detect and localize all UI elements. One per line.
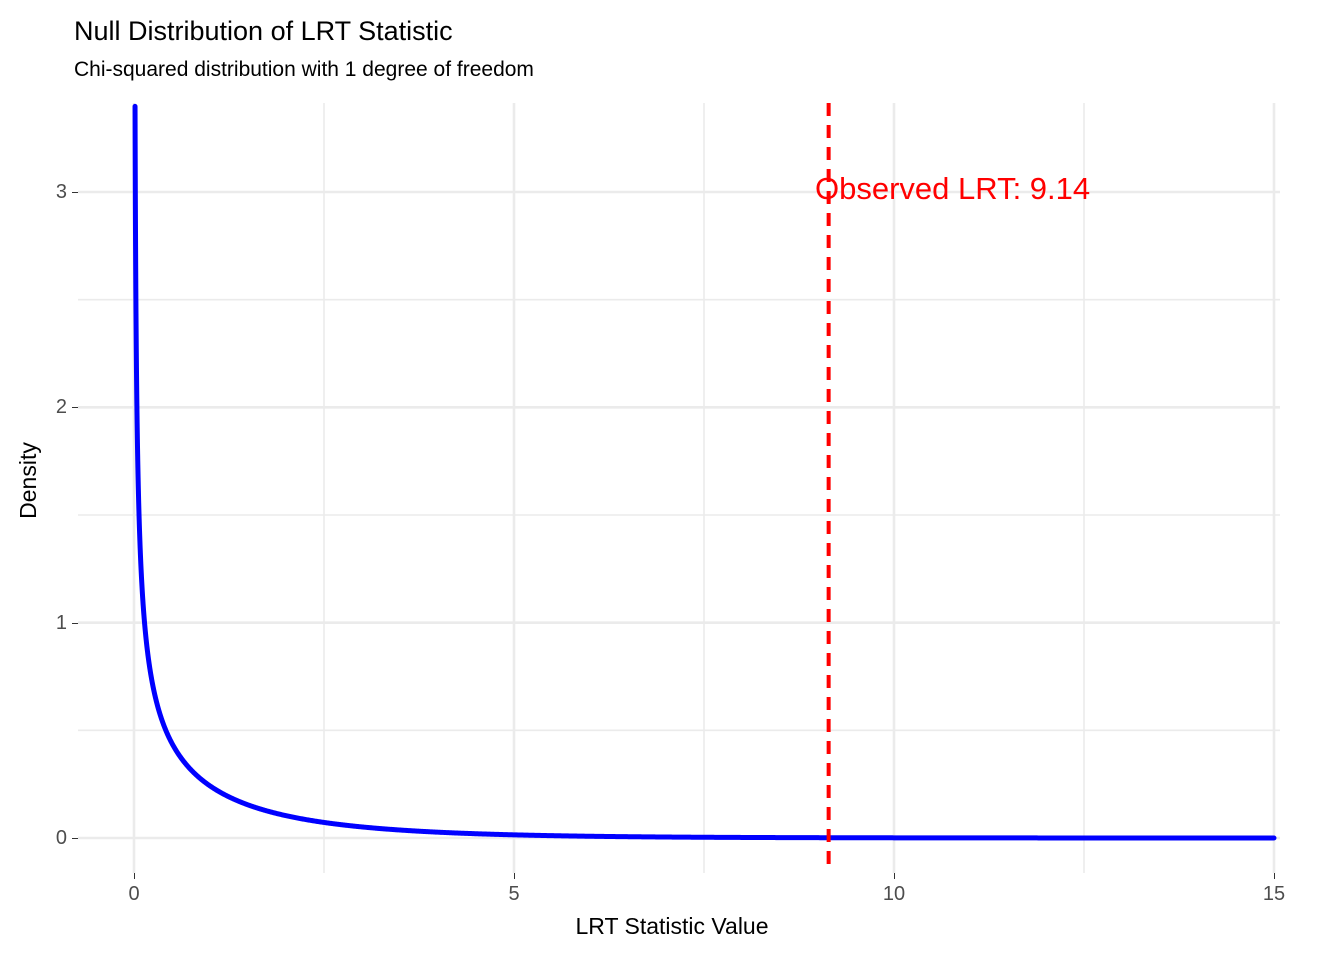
x-tick-label: 0 (104, 884, 164, 904)
y-tick-mark (72, 838, 78, 839)
x-tick-mark (514, 873, 515, 879)
plot-panel (78, 103, 1280, 873)
x-tick-mark (134, 873, 135, 879)
y-tick-label: 0 (56, 828, 67, 848)
major-gridlines (78, 103, 1280, 873)
minor-gridlines (78, 103, 1280, 873)
y-axis-title: Density (10, 0, 46, 960)
observed-lrt-annotation: Observed LRT: 9.14 (815, 171, 1090, 207)
y-tick-label: 1 (56, 613, 67, 633)
chart-subtitle: Chi-squared distribution with 1 degree o… (74, 56, 534, 84)
chart-root: Null Distribution of LRT Statistic Chi-s… (0, 0, 1344, 960)
x-tick-label: 15 (1244, 884, 1304, 904)
plot-area (78, 103, 1280, 873)
x-tick-label: 5 (484, 884, 544, 904)
y-tick-mark (72, 192, 78, 193)
x-tick-mark (1274, 873, 1275, 879)
y-tick-label: 3 (56, 182, 67, 202)
x-axis-title: LRT Statistic Value (0, 912, 1344, 940)
x-tick-mark (894, 873, 895, 879)
x-tick-label: 10 (864, 884, 924, 904)
y-tick-mark (72, 623, 78, 624)
chart-title: Null Distribution of LRT Statistic (74, 14, 453, 48)
y-tick-label: 2 (56, 397, 67, 417)
y-axis-title-text: Density (15, 442, 42, 519)
y-tick-mark (72, 407, 78, 408)
